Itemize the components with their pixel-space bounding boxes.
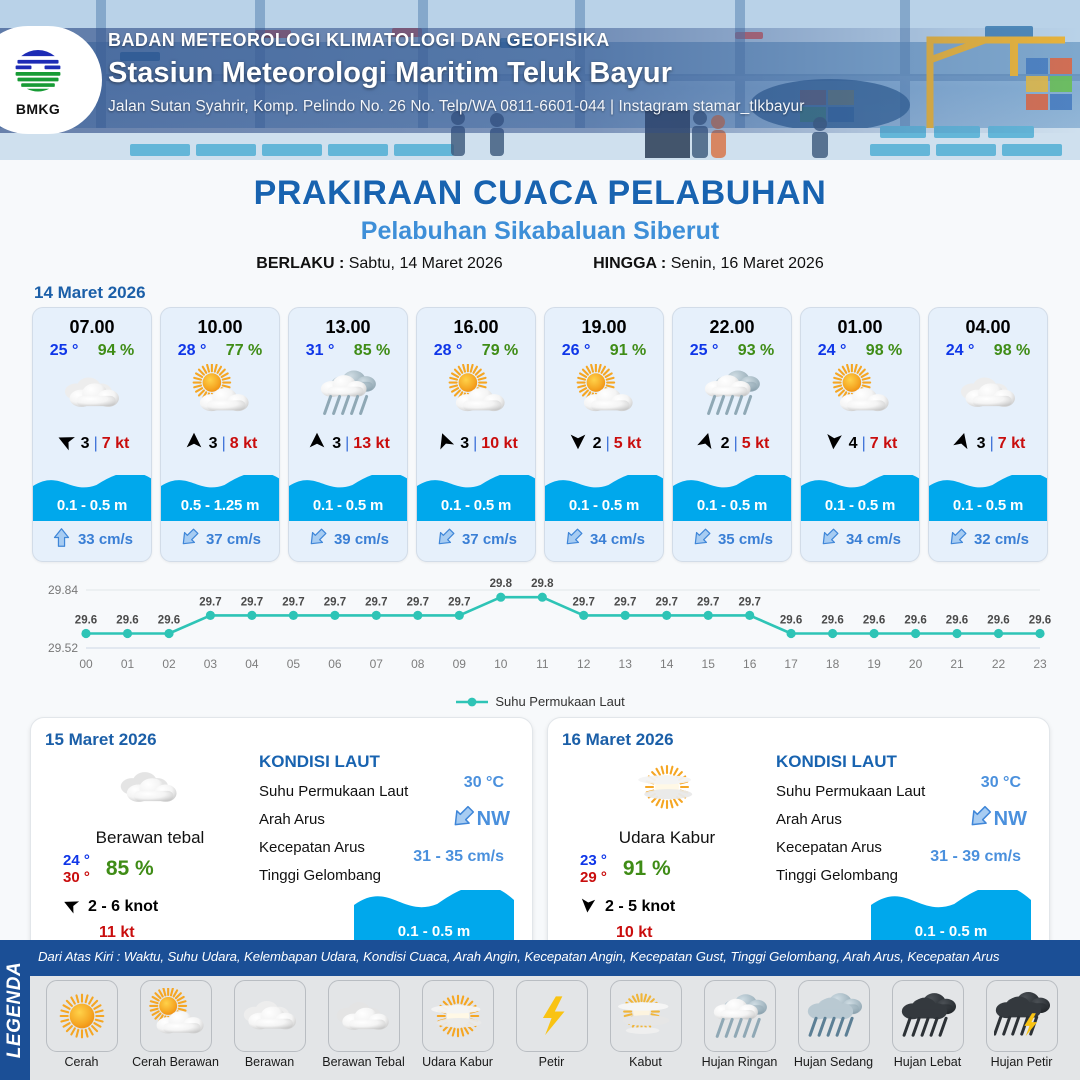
svg-text:10: 10 xyxy=(494,657,508,671)
berlaku-value: Sabtu, 14 Maret 2026 xyxy=(349,255,503,272)
hingga-value: Senin, 16 Maret 2026 xyxy=(671,255,824,272)
wind-direction-arrow-icon xyxy=(951,430,973,457)
daily-date: 16 Maret 2026 xyxy=(562,730,772,750)
svg-text:29.7: 29.7 xyxy=(365,596,387,608)
daily-temp-max: 29 ° xyxy=(580,869,607,886)
weather-berawan-icon xyxy=(234,980,306,1052)
current-speed: 39 cm/s xyxy=(334,531,389,548)
card-wave-group: 0.1 - 0.5 m xyxy=(33,465,151,521)
weather-udara-kabur-icon xyxy=(422,980,494,1052)
card-humidity: 79 % xyxy=(482,342,518,360)
wind-separator: | xyxy=(734,435,738,453)
wind-gust: 8 kt xyxy=(230,435,258,453)
svg-text:29.6: 29.6 xyxy=(987,615,1009,627)
card-humidity: 94 % xyxy=(98,342,134,360)
hourly-card[interactable]: 01.00 24 ° 98 % 4 | 7 kt xyxy=(800,307,920,562)
daily-condition: Berawan tebal xyxy=(45,828,255,848)
sst-chart-svg: 29.8429.5229.60029.60129.60229.70329.704… xyxy=(28,574,1052,686)
card-humidity: 98 % xyxy=(866,342,902,360)
sea-label-current-dir: Arah Arus xyxy=(776,811,842,828)
current-speed: 37 cm/s xyxy=(462,531,517,548)
svg-text:29.7: 29.7 xyxy=(739,596,761,608)
current-speed: 35 cm/s xyxy=(718,531,773,548)
current-direction-arrow-icon xyxy=(819,527,840,552)
sea-condition-title: KONDISI LAUT xyxy=(776,752,1035,772)
legend-item: Cerah Berawan xyxy=(132,980,219,1080)
card-temperature: 28 ° xyxy=(434,342,463,360)
wind-scale: 2 xyxy=(721,435,730,453)
berlaku-label: BERLAKU : xyxy=(256,255,344,272)
wind-gust: 13 kt xyxy=(353,435,389,453)
sea-value-wave: 0.1 - 0.5 m xyxy=(354,923,514,940)
card-humidity: 93 % xyxy=(738,342,774,360)
wind-scale: 3 xyxy=(460,435,469,453)
current-direction-arrow-icon xyxy=(947,527,968,552)
legend-item-label: Udara Kabur xyxy=(422,1055,493,1069)
wind-direction-arrow-icon xyxy=(183,430,205,457)
daily-gust: 11 kt xyxy=(45,924,255,942)
legend-item: Berawan Tebal xyxy=(320,980,407,1080)
card-temp-humidity: 26 ° 91 % xyxy=(545,338,663,360)
svg-text:01: 01 xyxy=(121,657,135,671)
card-wind-group: 3 | 7 kt xyxy=(929,424,1047,465)
card-wind-group: 3 | 10 kt xyxy=(417,424,535,465)
legend-item: Petir xyxy=(508,980,595,1080)
svg-text:02: 02 xyxy=(162,657,176,671)
card-temp-humidity: 24 ° 98 % xyxy=(929,338,1047,360)
card-temperature: 24 ° xyxy=(818,342,847,360)
wind-scale: 2 xyxy=(593,435,602,453)
hingga-group: HINGGA : Senin, 16 Maret 2026 xyxy=(593,255,824,272)
wind-direction-arrow-icon xyxy=(695,430,717,457)
wave-height: 0.1 - 0.5 m xyxy=(417,497,535,514)
daily-wind-range: 2 - 6 knot xyxy=(88,898,158,916)
legend-item: Hujan Sedang xyxy=(790,980,877,1080)
bmkg-emblem-icon xyxy=(10,44,66,100)
current-direction-arrow-icon xyxy=(435,527,456,552)
current-speed: 33 cm/s xyxy=(78,531,133,548)
legend-item-label: Berawan Tebal xyxy=(322,1055,404,1069)
wind-direction-arrow-icon xyxy=(578,895,598,920)
weather-kabut-icon xyxy=(610,980,682,1052)
current-direction-arrow-icon xyxy=(450,804,476,835)
svg-text:00: 00 xyxy=(79,657,93,671)
card-current-group: 39 cm/s xyxy=(289,521,407,561)
weather-berawan-icon xyxy=(929,362,1047,424)
legend-item: Hujan Ringan xyxy=(696,980,783,1080)
legend-item-label: Cerah Berawan xyxy=(132,1055,219,1069)
weather-hujan-ringan-icon xyxy=(289,362,407,424)
sea-value-current-dir-group: NW xyxy=(967,804,1027,835)
daily-forecast-panel[interactable]: 16 Maret 2026 Udara Kabur 23 ° 29 ° 91 % xyxy=(547,717,1050,965)
daily-wind-group: 2 - 5 knot xyxy=(562,895,772,920)
legend-item-label: Hujan Petir xyxy=(991,1055,1053,1069)
card-wind-group: 4 | 7 kt xyxy=(801,424,919,465)
card-wind-group: 3 | 13 kt xyxy=(289,424,407,465)
header-text-group: BADAN METEOROLOGI KLIMATOLOGI DAN GEOFIS… xyxy=(108,30,958,116)
sst-chart: 29.8429.5229.60029.60129.60229.70329.704… xyxy=(28,574,1052,692)
card-temp-humidity: 28 ° 77 % xyxy=(161,338,279,360)
svg-text:29.7: 29.7 xyxy=(697,596,719,608)
daily-temp-min: 23 ° xyxy=(580,852,607,869)
wave-height: 0.1 - 0.5 m xyxy=(673,497,791,514)
legend-note: Dari Atas Kiri : Waktu, Suhu Udara, Kele… xyxy=(38,949,1074,964)
svg-text:29.6: 29.6 xyxy=(821,615,843,627)
sea-label-current-speed: Kecepatan Arus xyxy=(259,839,365,856)
svg-text:09: 09 xyxy=(453,657,467,671)
weather-hujan-ringan-icon xyxy=(704,980,776,1052)
hourly-card[interactable]: 13.00 31 ° 85 % 3 | 13 kt xyxy=(288,307,408,562)
daily-temp-min: 24 ° xyxy=(63,852,90,869)
wind-gust: 5 kt xyxy=(614,435,642,453)
daily-humidity: 85 % xyxy=(106,857,154,881)
wind-direction-arrow-icon xyxy=(61,895,81,920)
svg-text:29.7: 29.7 xyxy=(241,596,263,608)
weather-cerah-berawan-icon xyxy=(801,362,919,424)
sea-value-sst: 30 °C xyxy=(981,774,1021,792)
weather-cerah-berawan-icon xyxy=(161,362,279,424)
hourly-card[interactable]: 19.00 26 ° 91 % 2 | 5 kt xyxy=(544,307,664,562)
card-time: 04.00 xyxy=(929,308,1047,338)
svg-text:16: 16 xyxy=(743,657,757,671)
svg-text:19: 19 xyxy=(867,657,881,671)
svg-text:29.7: 29.7 xyxy=(656,596,678,608)
card-wind-group: 2 | 5 kt xyxy=(673,424,791,465)
chart-legend: Suhu Permukaan Laut xyxy=(0,694,1080,709)
card-humidity: 98 % xyxy=(994,342,1030,360)
weather-hujan-sedang-icon xyxy=(798,980,870,1052)
legend-item-label: Kabut xyxy=(629,1055,662,1069)
hourly-card[interactable]: 04.00 24 ° 98 % 3 | 7 kt xyxy=(928,307,1048,562)
wind-separator: | xyxy=(222,435,226,453)
wind-gust: 7 kt xyxy=(870,435,898,453)
legend-item: Hujan Lebat xyxy=(884,980,971,1080)
wind-direction-arrow-icon xyxy=(306,430,328,457)
legend-marker-icon xyxy=(455,696,489,708)
sea-value-sst: 30 °C xyxy=(464,774,504,792)
svg-text:29.6: 29.6 xyxy=(863,615,885,627)
current-speed: 37 cm/s xyxy=(206,531,261,548)
wave-height: 0.5 - 1.25 m xyxy=(161,497,279,514)
weather-berawan-tebal-icon xyxy=(328,980,400,1052)
svg-text:23: 23 xyxy=(1033,657,1047,671)
card-wave-group: 0.1 - 0.5 m xyxy=(929,465,1047,521)
sea-label-wave: Tinggi Gelombang xyxy=(259,867,381,884)
card-current-group: 34 cm/s xyxy=(545,521,663,561)
current-direction-arrow-icon xyxy=(51,527,72,552)
daily-forecast-panel[interactable]: 15 Maret 2026 Berawan tebal 24 ° 30 ° 85… xyxy=(30,717,533,965)
legend-item-label: Hujan Sedang xyxy=(794,1055,873,1069)
bmkg-wordmark: BMKG xyxy=(16,101,60,117)
wind-gust: 5 kt xyxy=(742,435,770,453)
daily-temp-pair: 23 ° 29 ° xyxy=(580,852,607,887)
card-temp-humidity: 24 ° 98 % xyxy=(801,338,919,360)
weather-petir-icon xyxy=(516,980,588,1052)
weather-hujan-petir-icon xyxy=(986,980,1058,1052)
card-wave-group: 0.1 - 0.5 m xyxy=(417,465,535,521)
svg-text:29.7: 29.7 xyxy=(407,596,429,608)
legend-item-label: Hujan Lebat xyxy=(894,1055,961,1069)
legend-item-label: Petir xyxy=(539,1055,565,1069)
agency-name: BADAN METEOROLOGI KLIMATOLOGI DAN GEOFIS… xyxy=(108,30,958,51)
sea-row-wave: Tinggi Gelombang xyxy=(776,867,1035,884)
svg-text:29.6: 29.6 xyxy=(75,615,97,627)
wind-gust: 7 kt xyxy=(998,435,1026,453)
weather-cerah-berawan-icon xyxy=(545,362,663,424)
sea-value-current-dir-group: NW xyxy=(450,804,510,835)
wind-separator: | xyxy=(606,435,610,453)
legend-item: Berawan xyxy=(226,980,313,1080)
svg-text:08: 08 xyxy=(411,657,425,671)
svg-text:20: 20 xyxy=(909,657,923,671)
sea-condition-column: KONDISI LAUT Suhu Permukaan Laut Arah Ar… xyxy=(772,730,1035,954)
svg-text:29.7: 29.7 xyxy=(282,596,304,608)
svg-text:04: 04 xyxy=(245,657,259,671)
daily-gust: 10 kt xyxy=(562,924,772,942)
card-wave-group: 0.1 - 0.5 m xyxy=(673,465,791,521)
hourly-card[interactable]: 07.00 25 ° 94 % 3 | 7 kt xyxy=(32,307,152,562)
card-temperature: 24 ° xyxy=(946,342,975,360)
svg-text:29.7: 29.7 xyxy=(324,596,346,608)
card-wave-group: 0.5 - 1.25 m xyxy=(161,465,279,521)
svg-text:29.6: 29.6 xyxy=(116,615,138,627)
daily-left-column: 16 Maret 2026 Udara Kabur 23 ° 29 ° 91 % xyxy=(562,730,772,954)
svg-text:03: 03 xyxy=(204,657,218,671)
svg-text:11: 11 xyxy=(536,657,549,671)
wind-separator: | xyxy=(94,435,98,453)
daily-humidity: 91 % xyxy=(623,857,671,881)
daily-temp-humidity: 24 ° 30 ° 85 % xyxy=(45,852,255,887)
wind-direction-arrow-icon xyxy=(823,430,845,457)
daily-forecast-row: 15 Maret 2026 Berawan tebal 24 ° 30 ° 85… xyxy=(0,709,1080,965)
wind-scale: 4 xyxy=(849,435,858,453)
legend-item-label: Hujan Ringan xyxy=(702,1055,778,1069)
card-current-group: 37 cm/s xyxy=(161,521,279,561)
wind-gust: 10 kt xyxy=(481,435,517,453)
daily-left-column: 15 Maret 2026 Berawan tebal 24 ° 30 ° 85… xyxy=(45,730,255,954)
daily-temp-pair: 24 ° 30 ° xyxy=(63,852,90,887)
svg-text:29.7: 29.7 xyxy=(614,596,636,608)
svg-text:29.6: 29.6 xyxy=(780,615,802,627)
sea-label-sst: Suhu Permukaan Laut xyxy=(776,783,925,800)
hourly-card[interactable]: 22.00 25 ° 93 % 2 | 5 kt xyxy=(672,307,792,562)
sea-condition-column: KONDISI LAUT Suhu Permukaan Laut Arah Ar… xyxy=(255,730,518,954)
legend-side-label: LEGENDA xyxy=(0,940,30,1080)
weather-berawan-icon xyxy=(33,362,151,424)
svg-text:29.6: 29.6 xyxy=(946,615,968,627)
weather-cerah-berawan-icon xyxy=(140,980,212,1052)
station-name: Stasiun Meteorologi Maritim Teluk Bayur xyxy=(108,57,958,90)
svg-text:17: 17 xyxy=(784,657,798,671)
sea-label-current-dir: Arah Arus xyxy=(259,811,325,828)
card-temp-humidity: 31 ° 85 % xyxy=(289,338,407,360)
card-wave-group: 0.1 - 0.5 m xyxy=(545,465,663,521)
card-current-group: 37 cm/s xyxy=(417,521,535,561)
weather-berawan-tebal-icon xyxy=(45,756,255,818)
wind-scale: 3 xyxy=(977,435,986,453)
hourly-card[interactable]: 10.00 28 ° 77 % 3 | 8 kt xyxy=(160,307,280,562)
card-temperature: 25 ° xyxy=(50,342,79,360)
wind-gust: 7 kt xyxy=(102,435,130,453)
svg-text:22: 22 xyxy=(992,657,1006,671)
svg-text:12: 12 xyxy=(577,657,591,671)
svg-text:29.84: 29.84 xyxy=(48,583,78,597)
current-speed: 34 cm/s xyxy=(590,531,645,548)
current-direction-arrow-icon xyxy=(307,527,328,552)
current-speed: 32 cm/s xyxy=(974,531,1029,548)
card-humidity: 77 % xyxy=(226,342,262,360)
card-temperature: 31 ° xyxy=(306,342,335,360)
wave-height: 0.1 - 0.5 m xyxy=(801,497,919,514)
wind-separator: | xyxy=(862,435,866,453)
card-time: 16.00 xyxy=(417,308,535,338)
legend-item-label: Berawan xyxy=(245,1055,294,1069)
daily-wind-group: 2 - 6 knot xyxy=(45,895,255,920)
svg-text:29.6: 29.6 xyxy=(1029,615,1051,627)
wind-direction-arrow-icon xyxy=(567,430,589,457)
wave-height: 0.1 - 0.5 m xyxy=(33,497,151,514)
card-current-group: 32 cm/s xyxy=(929,521,1047,561)
wave-height: 0.1 - 0.5 m xyxy=(929,497,1047,514)
legend-item: Udara Kabur xyxy=(414,980,501,1080)
card-temp-humidity: 28 ° 79 % xyxy=(417,338,535,360)
legend-icon-panel: Cerah Cerah Berawan xyxy=(30,976,1080,1080)
svg-text:29.7: 29.7 xyxy=(573,596,595,608)
legend-item: Kabut xyxy=(602,980,689,1080)
current-direction-arrow-icon xyxy=(967,804,993,835)
sea-value-current-speed: 31 - 39 cm/s xyxy=(930,848,1021,866)
legend-side-text: LEGENDA xyxy=(4,962,26,1058)
card-time: 19.00 xyxy=(545,308,663,338)
sea-value-current-dir: NW xyxy=(994,808,1027,831)
current-direction-arrow-icon xyxy=(179,527,200,552)
daily-temp-max: 30 ° xyxy=(63,869,90,886)
wind-direction-arrow-icon xyxy=(434,430,456,457)
svg-text:29.6: 29.6 xyxy=(158,615,180,627)
sea-label-sst: Suhu Permukaan Laut xyxy=(259,783,408,800)
wind-scale: 3 xyxy=(332,435,341,453)
hourly-card[interactable]: 16.00 28 ° 79 % 3 | 10 kt xyxy=(416,307,536,562)
svg-text:29.7: 29.7 xyxy=(199,596,221,608)
wind-scale: 3 xyxy=(81,435,90,453)
card-wave-group: 0.1 - 0.5 m xyxy=(801,465,919,521)
card-temperature: 28 ° xyxy=(178,342,207,360)
daily-wind-range: 2 - 5 knot xyxy=(605,898,675,916)
station-address: Jalan Sutan Syahrir, Komp. Pelindo No. 2… xyxy=(108,98,958,116)
card-time: 07.00 xyxy=(33,308,151,338)
legend-item: Cerah xyxy=(38,980,125,1080)
daily-date: 15 Maret 2026 xyxy=(45,730,255,750)
weather-cerah-berawan-icon xyxy=(417,362,535,424)
daily-condition: Udara Kabur xyxy=(562,828,772,848)
svg-text:18: 18 xyxy=(826,657,840,671)
page-subtitle: Pelabuhan Sikabaluan Siberut xyxy=(0,217,1080,246)
card-time: 01.00 xyxy=(801,308,919,338)
weather-cerah-icon xyxy=(46,980,118,1052)
card-wind-group: 3 | 7 kt xyxy=(33,424,151,465)
card-time: 13.00 xyxy=(289,308,407,338)
svg-text:05: 05 xyxy=(287,657,301,671)
wave-height: 0.1 - 0.5 m xyxy=(289,497,407,514)
card-temperature: 25 ° xyxy=(690,342,719,360)
current-direction-arrow-icon xyxy=(691,527,712,552)
svg-text:29.6: 29.6 xyxy=(904,615,926,627)
hourly-date-label: 14 Maret 2026 xyxy=(34,283,1080,303)
sea-value-current-dir: NW xyxy=(477,808,510,831)
page-header: BMKG BADAN METEOROLOGI KLIMATOLOGI DAN G… xyxy=(0,0,1080,160)
weather-hujan-lebat-icon xyxy=(892,980,964,1052)
card-current-group: 33 cm/s xyxy=(33,521,151,561)
berlaku-group: BERLAKU : Sabtu, 14 Maret 2026 xyxy=(256,255,502,272)
svg-text:29.8: 29.8 xyxy=(490,578,513,590)
svg-text:29.8: 29.8 xyxy=(531,578,554,590)
svg-text:21: 21 xyxy=(950,657,964,671)
current-speed: 34 cm/s xyxy=(846,531,901,548)
card-time: 22.00 xyxy=(673,308,791,338)
card-humidity: 91 % xyxy=(610,342,646,360)
card-wave-group: 0.1 - 0.5 m xyxy=(289,465,407,521)
card-time: 10.00 xyxy=(161,308,279,338)
sea-label-current-speed: Kecepatan Arus xyxy=(776,839,882,856)
chart-legend-label: Suhu Permukaan Laut xyxy=(495,694,624,709)
svg-text:29.52: 29.52 xyxy=(48,641,78,655)
card-wind-group: 3 | 8 kt xyxy=(161,424,279,465)
wind-separator: | xyxy=(345,435,349,453)
wind-separator: | xyxy=(990,435,994,453)
svg-text:07: 07 xyxy=(370,657,384,671)
card-humidity: 85 % xyxy=(354,342,390,360)
weather-udara-kabur-icon xyxy=(562,756,772,818)
card-temp-humidity: 25 ° 93 % xyxy=(673,338,791,360)
legend-item: Hujan Petir xyxy=(978,980,1065,1080)
validity-row: BERLAKU : Sabtu, 14 Maret 2026 HINGGA : … xyxy=(0,255,1080,273)
card-temperature: 26 ° xyxy=(562,342,591,360)
sea-condition-title: KONDISI LAUT xyxy=(259,752,518,772)
hingga-label: HINGGA : xyxy=(593,255,666,272)
wind-scale: 3 xyxy=(209,435,218,453)
daily-temp-humidity: 23 ° 29 ° 91 % xyxy=(562,852,772,887)
card-wind-group: 2 | 5 kt xyxy=(545,424,663,465)
svg-text:13: 13 xyxy=(619,657,633,671)
title-block: PRAKIRAAN CUACA PELABUHAN Pelabuhan Sika… xyxy=(0,160,1080,273)
legend-bar: LEGENDA Dari Atas Kiri : Waktu, Suhu Uda… xyxy=(0,940,1080,1080)
card-current-group: 35 cm/s xyxy=(673,521,791,561)
wave-height: 0.1 - 0.5 m xyxy=(545,497,663,514)
svg-text:14: 14 xyxy=(660,657,674,671)
sea-value-current-speed: 31 - 35 cm/s xyxy=(413,848,504,866)
wind-separator: | xyxy=(473,435,477,453)
svg-text:29.7: 29.7 xyxy=(448,596,470,608)
sea-label-wave: Tinggi Gelombang xyxy=(776,867,898,884)
svg-text:06: 06 xyxy=(328,657,342,671)
weather-hujan-ringan-icon xyxy=(673,362,791,424)
page-title: PRAKIRAAN CUACA PELABUHAN xyxy=(0,174,1080,213)
wind-direction-arrow-icon xyxy=(55,430,77,457)
svg-text:15: 15 xyxy=(702,657,716,671)
hourly-forecast-row: 07.00 25 ° 94 % 3 | 7 kt xyxy=(0,307,1080,562)
card-current-group: 34 cm/s xyxy=(801,521,919,561)
card-temp-humidity: 25 ° 94 % xyxy=(33,338,151,360)
sea-row-wave: Tinggi Gelombang xyxy=(259,867,518,884)
current-direction-arrow-icon xyxy=(563,527,584,552)
legend-item-label: Cerah xyxy=(64,1055,98,1069)
sea-value-wave: 0.1 - 0.5 m xyxy=(871,923,1031,940)
